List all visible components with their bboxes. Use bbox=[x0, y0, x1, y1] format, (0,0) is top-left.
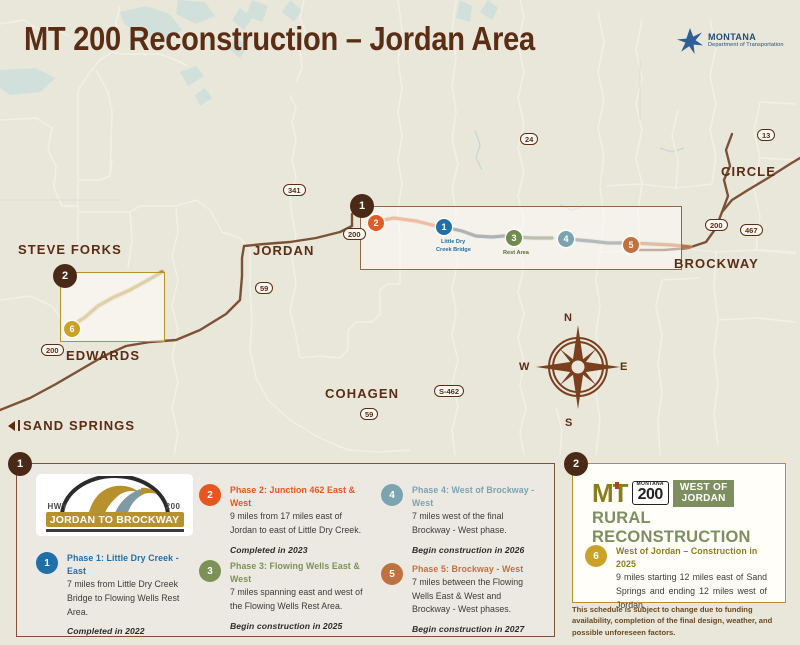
legend-dot-5: 5 bbox=[381, 563, 403, 585]
mt200-subtitle: RURAL RECONSTRUCTION bbox=[592, 509, 768, 547]
route-shield-200-edwards: 200 bbox=[41, 344, 64, 356]
legend-item-phase-4[interactable]: 4 Phase 4: West of Brockway - West 7 mil… bbox=[381, 484, 541, 555]
route-shield-59-cohagen: 59 bbox=[360, 408, 378, 420]
map-label-rest-area: Rest Area bbox=[503, 250, 529, 257]
panel-2-badge: 2 bbox=[564, 452, 588, 476]
city-label-edwards: EDWARDS bbox=[66, 348, 140, 363]
mt200-green-line2: JORDAN bbox=[680, 493, 728, 505]
panel-1-badge: 1 bbox=[8, 452, 32, 476]
legend-title-5: Phase 5: Brockway - West bbox=[412, 563, 541, 576]
map-canvas: N E S W STEVE FORKS JORDAN EDWARDS COHAG… bbox=[0, 0, 800, 455]
arrow-bar bbox=[18, 420, 20, 431]
city-label-jordan: JORDAN bbox=[253, 243, 315, 258]
legend-item-phase-6[interactable]: 6 West of Jordan – Construction in 2025 … bbox=[585, 545, 767, 612]
legend-item-phase-1[interactable]: 1 Phase 1: Little Dry Creek - East 7 mil… bbox=[36, 552, 196, 636]
legend-dot-2: 2 bbox=[199, 484, 221, 506]
legend-title-4: Phase 4: West of Brockway - West bbox=[412, 484, 541, 510]
compass-n: N bbox=[564, 312, 572, 324]
legend-title-2: Phase 2: Junction 462 East & West bbox=[230, 484, 371, 510]
route-shield-59-jordan: 59 bbox=[255, 282, 273, 294]
logo-rule bbox=[46, 529, 184, 532]
legend-status-3: Begin construction in 2025 bbox=[230, 621, 371, 631]
compass-w: W bbox=[519, 361, 529, 373]
legend-status-1: Completed in 2022 bbox=[67, 626, 196, 636]
map-marker-phase-1[interactable]: 1 bbox=[436, 219, 452, 235]
legend-title-1: Phase 1: Little Dry Creek - East bbox=[67, 552, 196, 578]
legend-desc-1: 7 miles from Little Dry Creek Bridge to … bbox=[67, 578, 196, 619]
route-shield-24: 24 bbox=[520, 133, 538, 145]
map-marker-panel-1[interactable]: 1 bbox=[350, 194, 374, 218]
logo-name-text: JORDAN TO BROCKWAY bbox=[50, 514, 180, 526]
compass-s: S bbox=[565, 417, 572, 429]
mt200-mt-text: MT bbox=[592, 480, 628, 506]
map-marker-phase-5[interactable]: 5 bbox=[623, 237, 639, 253]
arrow-left-icon bbox=[8, 421, 15, 431]
legend-dot-4: 4 bbox=[381, 484, 403, 506]
legend-desc-3: 7 miles spanning east and west of the Fl… bbox=[230, 586, 371, 613]
logo-name-band: JORDAN TO BROCKWAY bbox=[46, 512, 184, 527]
mt200-accent-mark bbox=[615, 482, 619, 489]
map-marker-panel-2[interactable]: 2 bbox=[53, 264, 77, 288]
jordan-to-brockway-logo: HWY 200 JORDAN TO BROCKWAY bbox=[36, 474, 193, 536]
sand-springs-direction: SAND SPRINGS bbox=[8, 418, 135, 433]
mt200-green-line1: WEST OF bbox=[680, 482, 728, 494]
legend-status-5: Begin construction in 2027 bbox=[412, 624, 541, 634]
map-marker-phase-4[interactable]: 4 bbox=[558, 231, 574, 247]
route-shield-200-jordan: 200 bbox=[343, 228, 366, 240]
poster-root: N E S W STEVE FORKS JORDAN EDWARDS COHAG… bbox=[0, 0, 800, 645]
route-shield-467: 467 bbox=[740, 224, 763, 236]
legend-dot-1: 1 bbox=[36, 552, 58, 574]
mt200-shield-number: 200 bbox=[637, 487, 664, 503]
schedule-disclaimer: This schedule is subject to change due t… bbox=[572, 604, 787, 638]
city-label-brockway: BROCKWAY bbox=[674, 256, 759, 271]
legend-item-phase-3[interactable]: 3 Phase 3: Flowing Wells East & West 7 m… bbox=[199, 560, 371, 631]
mt200-mt-letters: MT bbox=[592, 478, 628, 508]
logo-route-label: 200 bbox=[166, 502, 181, 511]
legend-status-4: Begin construction in 2026 bbox=[412, 545, 541, 555]
map-label-little-dry-2: Creek Bridge bbox=[436, 247, 471, 254]
legend-title-6: West of Jordan – Construction in 2025 bbox=[616, 545, 767, 571]
map-marker-phase-2[interactable]: 2 bbox=[368, 215, 384, 231]
map-marker-phase-3[interactable]: 3 bbox=[506, 230, 522, 246]
route-shield-s462: S-462 bbox=[434, 385, 464, 397]
city-label-circle: CIRCLE bbox=[721, 164, 776, 179]
map-marker-phase-6[interactable]: 6 bbox=[64, 321, 80, 337]
mt200-route-shield: MONTANA 200 bbox=[632, 481, 669, 505]
city-label-cohagen: COHAGEN bbox=[325, 386, 399, 401]
legend-desc-2: 9 miles from 17 miles east of Jordan to … bbox=[230, 510, 371, 537]
city-label-steve-forks: STEVE FORKS bbox=[18, 242, 122, 257]
star-icon bbox=[676, 27, 704, 55]
legend-item-phase-5[interactable]: 5 Phase 5: Brockway - West 7 miles betwe… bbox=[381, 563, 541, 634]
city-label-sand-springs: SAND SPRINGS bbox=[23, 418, 135, 433]
mdt-logo-line2: Department of Transportation bbox=[708, 43, 784, 49]
legend-status-2: Completed in 2023 bbox=[230, 545, 371, 555]
page-title: MT 200 Reconstruction – Jordan Area bbox=[24, 20, 535, 58]
legend-desc-5: 7 miles between the Flowing Wells East &… bbox=[412, 576, 541, 617]
legend-desc-4: 7 miles west of the final Brockway - Wes… bbox=[412, 510, 541, 537]
legend-dot-6: 6 bbox=[585, 545, 607, 567]
legend-item-phase-2[interactable]: 2 Phase 2: Junction 462 East & West 9 mi… bbox=[199, 484, 371, 555]
route-shield-200-brockway: 200 bbox=[705, 219, 728, 231]
logo-hwy-label: HWY bbox=[48, 502, 68, 511]
compass-e: E bbox=[620, 361, 627, 373]
legend-dot-3: 3 bbox=[199, 560, 221, 582]
map-label-little-dry-1: Little Dry bbox=[441, 239, 465, 246]
route-shield-341: 341 bbox=[283, 184, 306, 196]
mt200-west-of-jordan-logo: MT MONTANA 200 WEST OF JORDAN RURAL RECO… bbox=[592, 478, 768, 526]
mt200-green-tag: WEST OF JORDAN bbox=[673, 480, 735, 507]
mdt-logo: MONTANA Department of Transportation bbox=[676, 27, 784, 55]
legend-title-3: Phase 3: Flowing Wells East & West bbox=[230, 560, 371, 586]
route-shield-13: 13 bbox=[757, 129, 775, 141]
